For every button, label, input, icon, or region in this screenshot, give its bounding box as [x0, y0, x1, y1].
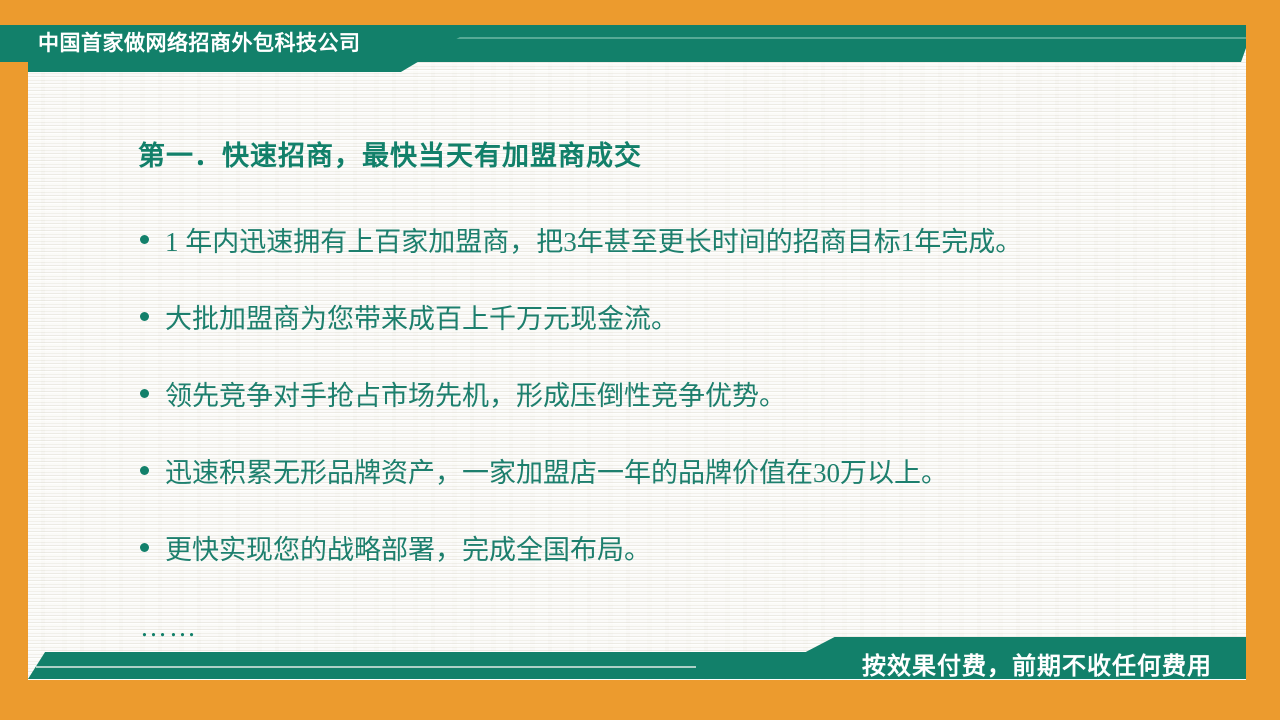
list-item-text: 领先竞争对手抢占市场先机，形成压倒性竞争优势。 — [165, 381, 786, 411]
header-title-block: 中国首家做网络招商外包科技公司 — [28, 25, 480, 72]
list-item: 大批加盟商为您带来成百上千万元现金流。 — [140, 304, 1230, 381]
list-item: 迅速积累无形品牌资产，一家加盟店一年的品牌价值在30万以上。 — [140, 458, 1230, 535]
list-item-text: 大批加盟商为您带来成百上千万元现金流。 — [165, 304, 678, 334]
list-item-text: 迅速积累无形品牌资产，一家加盟店一年的品牌价值在30万以上。 — [165, 458, 948, 488]
footer-hairline-divider — [36, 666, 696, 668]
bullet-dot-icon — [140, 235, 149, 244]
bullet-dot-icon — [140, 466, 149, 475]
bullet-dot-icon — [140, 389, 149, 398]
list-item-text: 更快实现您的战略部署，完成全国布局。 — [165, 535, 651, 565]
bullet-list: 1 年内迅速拥有上百家加盟商，把3年甚至更长时间的招商目标1年完成。 大批加盟商… — [140, 227, 1230, 612]
footer-tagline: 按效果付费，前期不收任何费用 — [862, 646, 1212, 681]
bullet-dot-icon — [140, 312, 149, 321]
list-item: 领先竞争对手抢占市场先机，形成压倒性竞争优势。 — [140, 381, 1230, 458]
list-item: 1 年内迅速拥有上百家加盟商，把3年甚至更长时间的招商目标1年完成。 — [140, 227, 1230, 304]
continuation-ellipsis: …… — [140, 612, 198, 643]
page-title: 第一．快速招商，最快当天有加盟商成交 — [138, 134, 642, 173]
slide-content: 第一．快速招商，最快当天有加盟商成交 1 年内迅速拥有上百家加盟商，把3年甚至更… — [28, 72, 1246, 632]
bullet-dot-icon — [140, 543, 149, 552]
list-item-text: 1 年内迅速拥有上百家加盟商，把3年甚至更长时间的招商目标1年完成。 — [165, 227, 1022, 257]
header-title: 中国首家做网络招商外包科技公司 — [28, 25, 361, 62]
list-item: 更快实现您的战略部署，完成全国布局。 — [140, 535, 1230, 612]
slide-canvas: 中国首家做网络招商外包科技公司 第一．快速招商，最快当天有加盟商成交 1 年内迅… — [0, 0, 1280, 720]
